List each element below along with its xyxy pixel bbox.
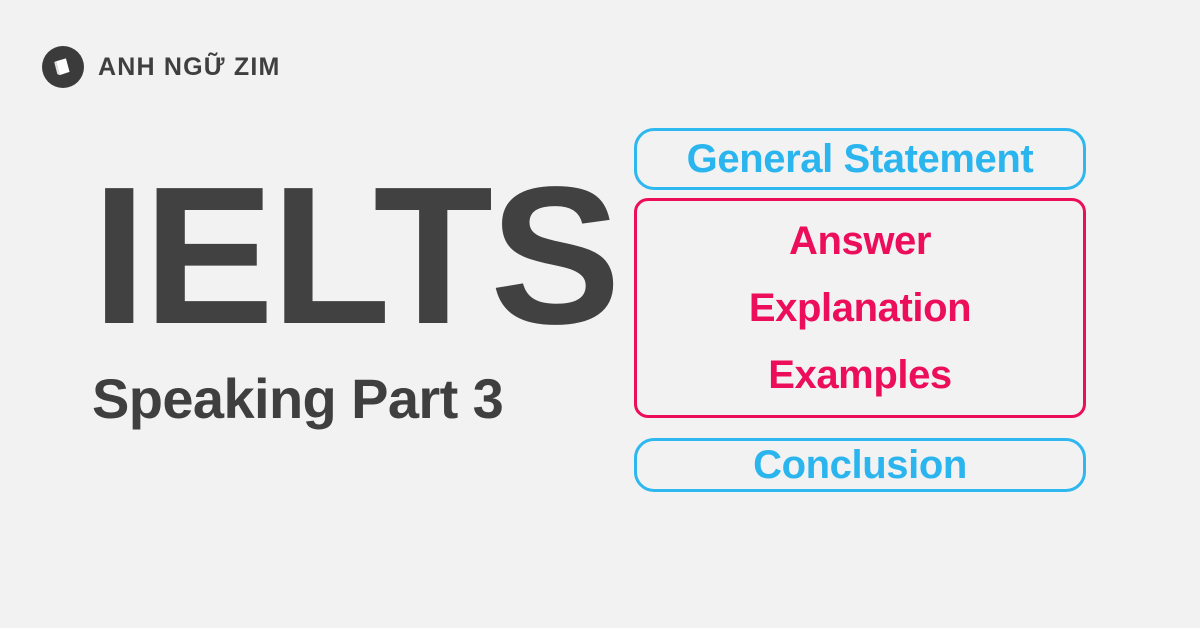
poster-canvas: ANH NGỮ ZIM IELTS Speaking Part 3 Genera… xyxy=(0,0,1200,628)
page-title: IELTS xyxy=(92,176,572,337)
answer-structure-diagram: General Statement Answer Explanation Exa… xyxy=(634,128,1086,492)
body-line-answer: Answer xyxy=(637,207,1083,274)
page-subtitle: Speaking Part 3 xyxy=(92,371,572,427)
brand-logo: ANH NGỮ ZIM xyxy=(42,46,281,88)
headline-block: IELTS Speaking Part 3 xyxy=(92,176,572,427)
conclusion-box: Conclusion xyxy=(634,438,1086,492)
body-line-examples: Examples xyxy=(637,342,1083,409)
conclusion-label: Conclusion xyxy=(753,445,967,485)
general-statement-box: General Statement xyxy=(634,128,1086,190)
body-box: Answer Explanation Examples xyxy=(634,198,1086,418)
body-line-explanation: Explanation xyxy=(637,274,1083,341)
book-icon xyxy=(42,46,84,88)
general-statement-label: General Statement xyxy=(687,139,1034,179)
brand-name: ANH NGỮ ZIM xyxy=(98,55,281,80)
